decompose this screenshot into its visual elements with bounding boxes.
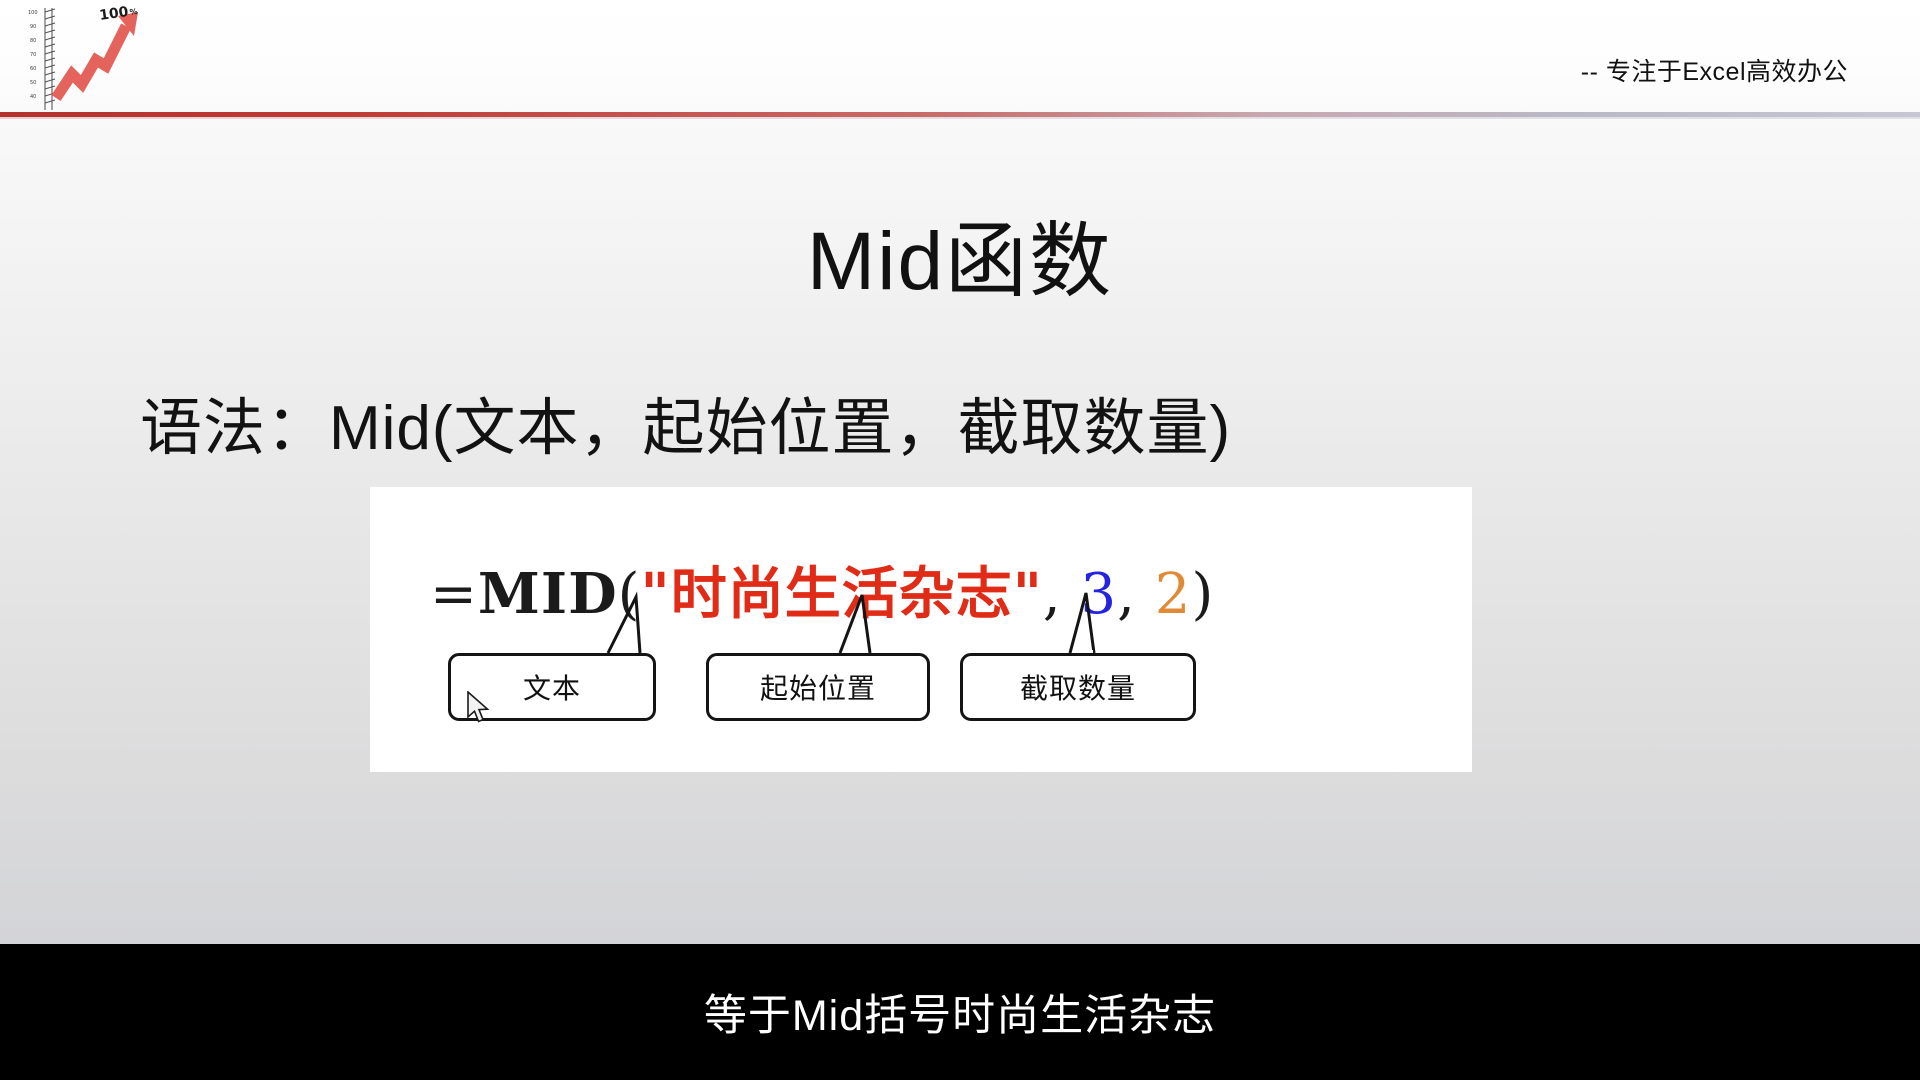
syntax-line: 语法：Mid(文本，起始位置，截取数量) xyxy=(140,377,1231,467)
svg-text:%: % xyxy=(129,7,138,17)
formula-quote-close: " xyxy=(1013,561,1043,627)
svg-text:90: 90 xyxy=(30,24,36,30)
callout-start-position: 起始位置 xyxy=(706,653,930,721)
formula-function-name: MID xyxy=(478,561,618,627)
subtitle-caption: 等于Mid括号时尚生活杂志 xyxy=(0,981,1920,1043)
formula-close-paren: ) xyxy=(1191,562,1214,627)
svg-text:60: 60 xyxy=(30,66,36,72)
svg-text:40: 40 xyxy=(30,94,36,100)
svg-text:70: 70 xyxy=(30,52,36,58)
callout-char-count: 截取数量 xyxy=(960,653,1196,721)
page-title: Mid函数 xyxy=(0,219,1920,305)
callout-label: 文本 xyxy=(523,667,581,707)
formula-expression: =MID("时尚生活杂志", 3, 2) xyxy=(430,549,1214,630)
formula-text-argument: 时尚生活杂志 xyxy=(671,562,1013,627)
slide-screen: 100 90 80 70 60 50 40 100 % -- 专注于Excel高… xyxy=(0,0,1920,1080)
callout-label: 截取数量 xyxy=(1020,667,1136,707)
rising-arrow-chart-icon: 100 90 80 70 60 50 40 100 % xyxy=(14,2,162,114)
formula-open-paren: ( xyxy=(618,562,641,627)
svg-text:100: 100 xyxy=(28,10,38,16)
svg-text:50: 50 xyxy=(30,80,36,86)
subtitle-bar: 等于Mid括号时尚生活杂志 xyxy=(0,944,1920,1080)
callout-label: 起始位置 xyxy=(760,667,876,707)
slide-header: 100 90 80 70 60 50 40 100 % -- 专注于Excel高… xyxy=(0,0,1920,116)
formula-comma-1: , xyxy=(1043,562,1062,627)
slide-body: Mid函数 语法：Mid(文本，起始位置，截取数量) =MID("时尚生活杂志"… xyxy=(0,119,1920,944)
formula-equals: = xyxy=(430,562,478,627)
formula-char-count: 2 xyxy=(1155,562,1192,627)
svg-text:80: 80 xyxy=(30,38,36,44)
formula-illustration-panel: =MID("时尚生活杂志", 3, 2) xyxy=(370,487,1472,772)
header-tagline: -- 专注于Excel高效办公 xyxy=(1581,52,1848,88)
formula-quote-open: " xyxy=(641,561,671,627)
formula-comma-2: , xyxy=(1117,562,1136,627)
formula-start-position: 3 xyxy=(1081,562,1118,627)
mouse-pointer-icon xyxy=(466,691,492,727)
